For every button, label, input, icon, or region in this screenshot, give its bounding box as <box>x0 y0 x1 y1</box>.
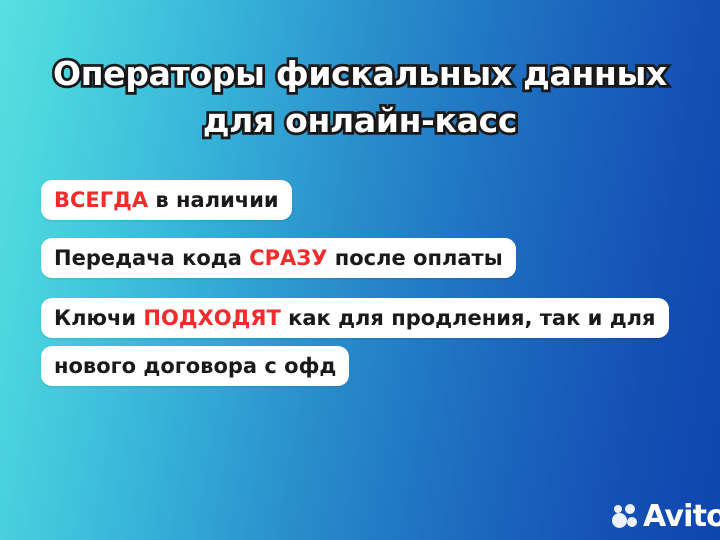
badge-keys-compatibility: Ключи ПОДХОДЯТ как для продления, так и … <box>41 298 669 386</box>
avito-brand-label: Avito <box>643 502 720 532</box>
title-line-1: Операторы фискальных данных <box>0 50 720 97</box>
list-item: Передача кода СРАЗУ после оплаты <box>41 236 691 280</box>
plain-text: Ключи <box>54 306 143 330</box>
plain-text: Передача кода <box>54 246 249 270</box>
avito-watermark: Avito <box>612 502 720 532</box>
avito-dots-icon <box>612 504 638 530</box>
highlighted-text: ПОДХОДЯТ <box>143 306 280 330</box>
plain-text: в наличии <box>148 188 279 212</box>
poster-canvas: Операторы фискальных данных для онлайн-к… <box>0 0 720 540</box>
list-item: Ключи ПОДХОДЯТ как для продления, так и … <box>41 294 691 390</box>
highlighted-text: СРАЗУ <box>249 246 327 270</box>
feature-badge-list: ВСЕГДА в наличии Передача кода СРАЗУ пос… <box>41 178 691 404</box>
highlighted-text: ВСЕГДА <box>54 188 148 212</box>
list-item: ВСЕГДА в наличии <box>41 178 691 222</box>
badge-instant-delivery: Передача кода СРАЗУ после оплаты <box>41 238 516 278</box>
title-line-2: для онлайн-касс <box>0 97 720 144</box>
page-title: Операторы фискальных данных для онлайн-к… <box>0 50 720 144</box>
badge-availability: ВСЕГДА в наличии <box>41 180 292 220</box>
plain-text: после оплаты <box>327 246 502 270</box>
